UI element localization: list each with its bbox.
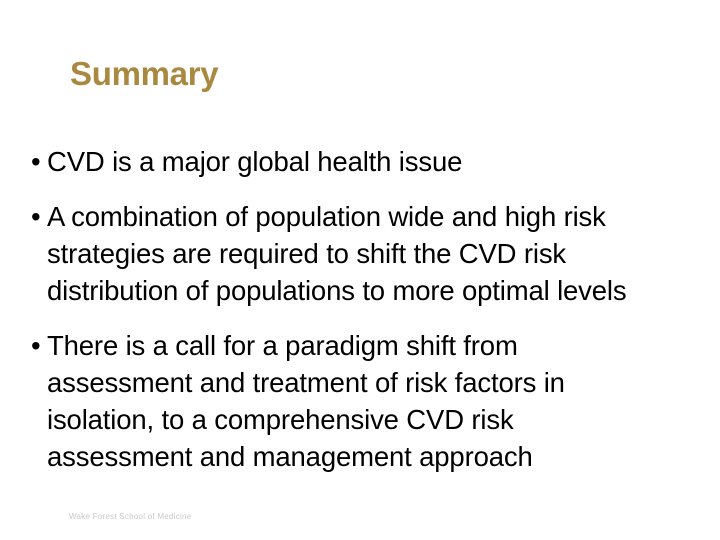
bullet-dot-icon: • xyxy=(31,198,47,235)
bullet-dot-icon: • xyxy=(31,327,47,364)
list-item-line: CVD is a major global health issue xyxy=(47,143,700,180)
list-item-line: There is a call for a paradigm shift fro… xyxy=(47,327,700,364)
list-item-line: assessment and management approach xyxy=(47,438,700,475)
bullet-list: • CVD is a major global health issue • A… xyxy=(28,143,700,475)
presentation-slide: Summary • CVD is a major global health i… xyxy=(0,0,720,540)
page-title: Summary xyxy=(70,54,218,94)
list-item: • There is a call for a paradigm shift f… xyxy=(28,327,700,475)
bullet-dot-icon: • xyxy=(31,143,47,180)
list-item-line: distribution of populations to more opti… xyxy=(47,272,700,309)
list-item-line: isolation, to a comprehensive CVD risk xyxy=(47,401,700,438)
list-item: • CVD is a major global health issue xyxy=(28,143,700,180)
list-item-line: assessment and treatment of risk factors… xyxy=(47,364,700,401)
list-item-line: A combination of population wide and hig… xyxy=(47,198,700,235)
list-item-line: strategies are required to shift the CVD… xyxy=(47,235,700,272)
slide-footer-attribution: Wake Forest School of Medicine xyxy=(69,512,191,521)
list-item: • A combination of population wide and h… xyxy=(28,198,700,309)
